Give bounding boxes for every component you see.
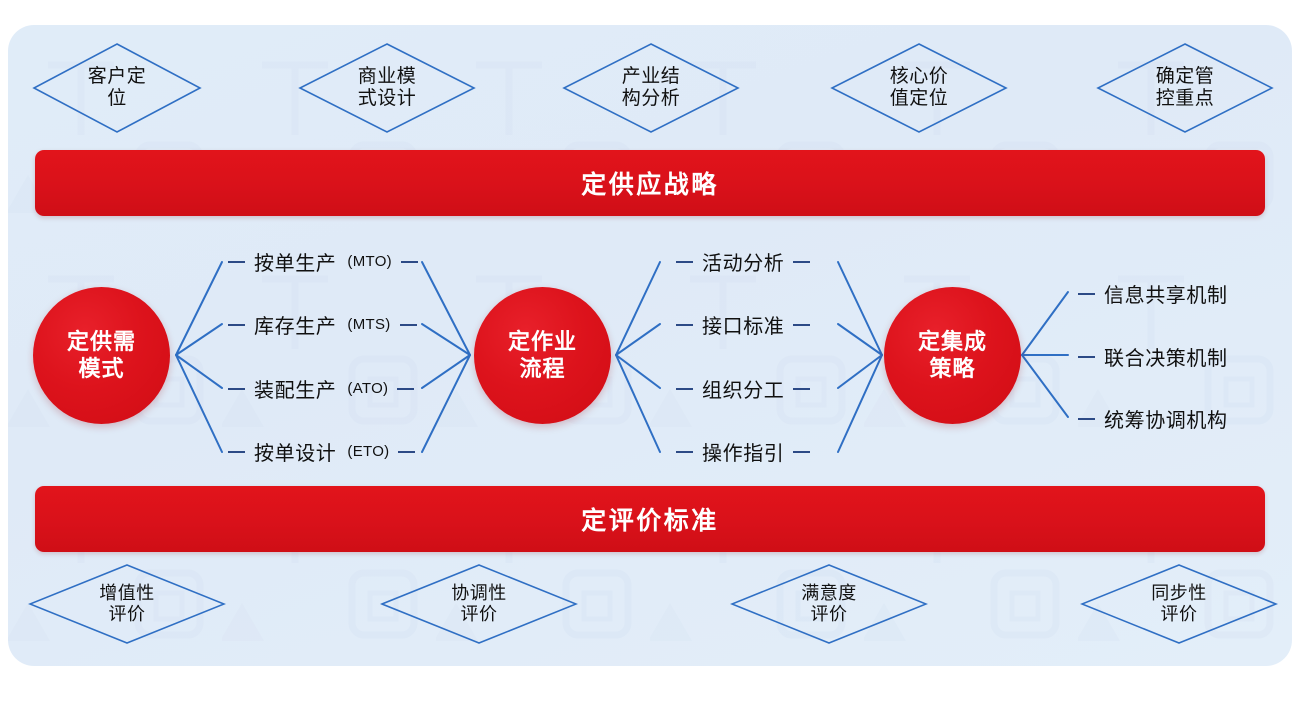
dash-left-icon xyxy=(676,388,693,390)
branch-right-3-label: 统筹协调机构 xyxy=(1104,404,1228,433)
branch-middle-3-label: 组织分工 xyxy=(702,374,784,403)
banner-supply-strategy[interactable]: 定供应战略 xyxy=(35,150,1265,216)
dash-right-icon xyxy=(400,324,417,326)
dash-left-icon xyxy=(228,451,245,453)
circle-3-label: 定集成 策略 xyxy=(918,329,987,383)
branch-left-4[interactable]: 按单设计 (ETO) xyxy=(228,437,415,466)
bottom-diamond-4-label: 同步性 评价 xyxy=(1151,583,1207,625)
dash-right-icon xyxy=(401,261,418,263)
bottom-diamond-1[interactable]: 增值性 评价 xyxy=(28,563,226,645)
circle-1-label: 定供需 模式 xyxy=(67,329,136,383)
dash-right-icon xyxy=(793,261,810,263)
dash-left-icon xyxy=(228,388,245,390)
branch-middle-2-label: 接口标准 xyxy=(702,310,784,339)
dash-left-icon xyxy=(1078,356,1095,358)
branch-left-2-abbr: (MTS) xyxy=(347,316,390,333)
banner-evaluation-standard[interactable]: 定评价标准 xyxy=(35,486,1265,552)
top-diamond-1-label: 客户定 位 xyxy=(88,66,147,111)
circle-integration-strategy[interactable]: 定集成 策略 xyxy=(884,287,1021,424)
dash-left-icon xyxy=(1078,293,1095,295)
branch-left-4-abbr: (ETO) xyxy=(347,443,389,460)
branch-middle-1[interactable]: 活动分析 xyxy=(676,247,810,276)
branch-right-1[interactable]: 信息共享机制 xyxy=(1078,279,1228,308)
circle-operation-process[interactable]: 定作业 流程 xyxy=(474,287,611,424)
bottom-diamond-2-label: 协调性 评价 xyxy=(451,583,507,625)
bottom-diamond-4[interactable]: 同步性 评价 xyxy=(1080,563,1278,645)
dash-left-icon xyxy=(228,324,245,326)
top-diamond-5[interactable]: 确定管 控重点 xyxy=(1096,42,1274,134)
top-diamond-4-label: 核心价 值定位 xyxy=(890,66,949,111)
branch-left-1-abbr: (MTO) xyxy=(347,253,392,270)
branch-middle-4[interactable]: 操作指引 xyxy=(676,437,810,466)
diagram-canvas: 客户定 位 商业模 式设计 产业结 构分析 核心价 值定位 确定管 控重点 定供… xyxy=(0,0,1300,702)
dash-right-icon xyxy=(793,388,810,390)
branch-middle-1-label: 活动分析 xyxy=(702,247,784,276)
top-diamond-1[interactable]: 客户定 位 xyxy=(32,42,202,134)
circle-2-label: 定作业 流程 xyxy=(508,329,577,383)
branch-left-1[interactable]: 按单生产 (MTO) xyxy=(228,247,418,276)
branch-middle-4-label: 操作指引 xyxy=(702,437,784,466)
top-diamond-5-label: 确定管 控重点 xyxy=(1156,66,1215,111)
dash-right-icon xyxy=(398,451,415,453)
dash-right-icon xyxy=(793,324,810,326)
branch-right-2-label: 联合决策机制 xyxy=(1104,342,1228,371)
branch-right-1-label: 信息共享机制 xyxy=(1104,279,1228,308)
top-diamond-3-label: 产业结 构分析 xyxy=(622,66,681,111)
dash-left-icon xyxy=(228,261,245,263)
bottom-diamond-3-label: 满意度 评价 xyxy=(801,583,857,625)
branch-left-3-abbr: (ATO) xyxy=(347,380,388,397)
branch-left-1-label: 按单生产 xyxy=(254,247,336,276)
branch-left-3[interactable]: 装配生产 (ATO) xyxy=(228,374,414,403)
branch-middle-2[interactable]: 接口标准 xyxy=(676,310,810,339)
banner-top-label: 定供应战略 xyxy=(581,165,719,201)
branch-middle-3[interactable]: 组织分工 xyxy=(676,374,810,403)
branch-left-2-label: 库存生产 xyxy=(254,310,336,339)
branch-left-3-label: 装配生产 xyxy=(254,374,336,403)
branch-right-3[interactable]: 统筹协调机构 xyxy=(1078,404,1228,433)
dash-left-icon xyxy=(676,324,693,326)
dash-left-icon xyxy=(1078,418,1095,420)
branch-left-4-label: 按单设计 xyxy=(254,437,336,466)
branch-right-2[interactable]: 联合决策机制 xyxy=(1078,342,1228,371)
bottom-diamond-2[interactable]: 协调性 评价 xyxy=(380,563,578,645)
bottom-diamond-1-label: 增值性 评价 xyxy=(99,583,155,625)
top-diamond-3[interactable]: 产业结 构分析 xyxy=(562,42,740,134)
top-diamond-2[interactable]: 商业模 式设计 xyxy=(298,42,476,134)
bottom-diamond-3[interactable]: 满意度 评价 xyxy=(730,563,928,645)
dash-right-icon xyxy=(397,388,414,390)
top-diamond-2-label: 商业模 式设计 xyxy=(358,66,417,111)
dash-right-icon xyxy=(793,451,810,453)
dash-left-icon xyxy=(676,261,693,263)
dash-left-icon xyxy=(676,451,693,453)
banner-bottom-label: 定评价标准 xyxy=(581,501,719,537)
branch-left-2[interactable]: 库存生产 (MTS) xyxy=(228,310,417,339)
circle-supply-demand-mode[interactable]: 定供需 模式 xyxy=(33,287,170,424)
top-diamond-4[interactable]: 核心价 值定位 xyxy=(830,42,1008,134)
